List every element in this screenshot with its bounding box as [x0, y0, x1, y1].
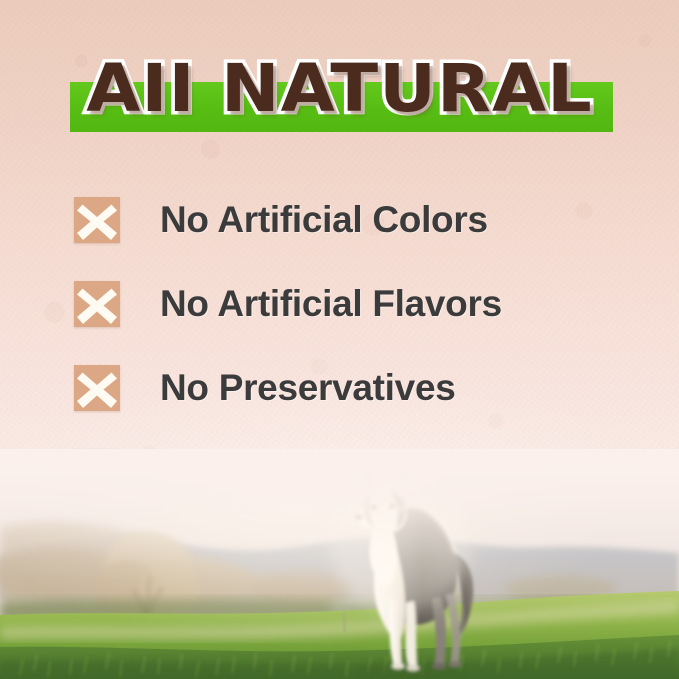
x-mark-icon	[74, 365, 120, 411]
claim-label: No Artificial Colors	[160, 197, 488, 243]
all-natural-poster: AII NATURAL No Artificial Colors No Arti…	[0, 0, 679, 679]
list-item: No Artificial Flavors	[74, 262, 634, 346]
landscape-photo	[0, 449, 679, 679]
list-item: No Preservatives	[74, 346, 634, 430]
list-item: No Artificial Colors	[74, 178, 634, 262]
claim-label: No Preservatives	[160, 365, 456, 411]
page-title: AII NATURAL	[0, 46, 679, 132]
claim-label: No Artificial Flavors	[160, 281, 502, 327]
headline-block: AII NATURAL	[0, 46, 679, 138]
x-mark-icon	[74, 281, 120, 327]
x-mark-icon	[74, 197, 120, 243]
